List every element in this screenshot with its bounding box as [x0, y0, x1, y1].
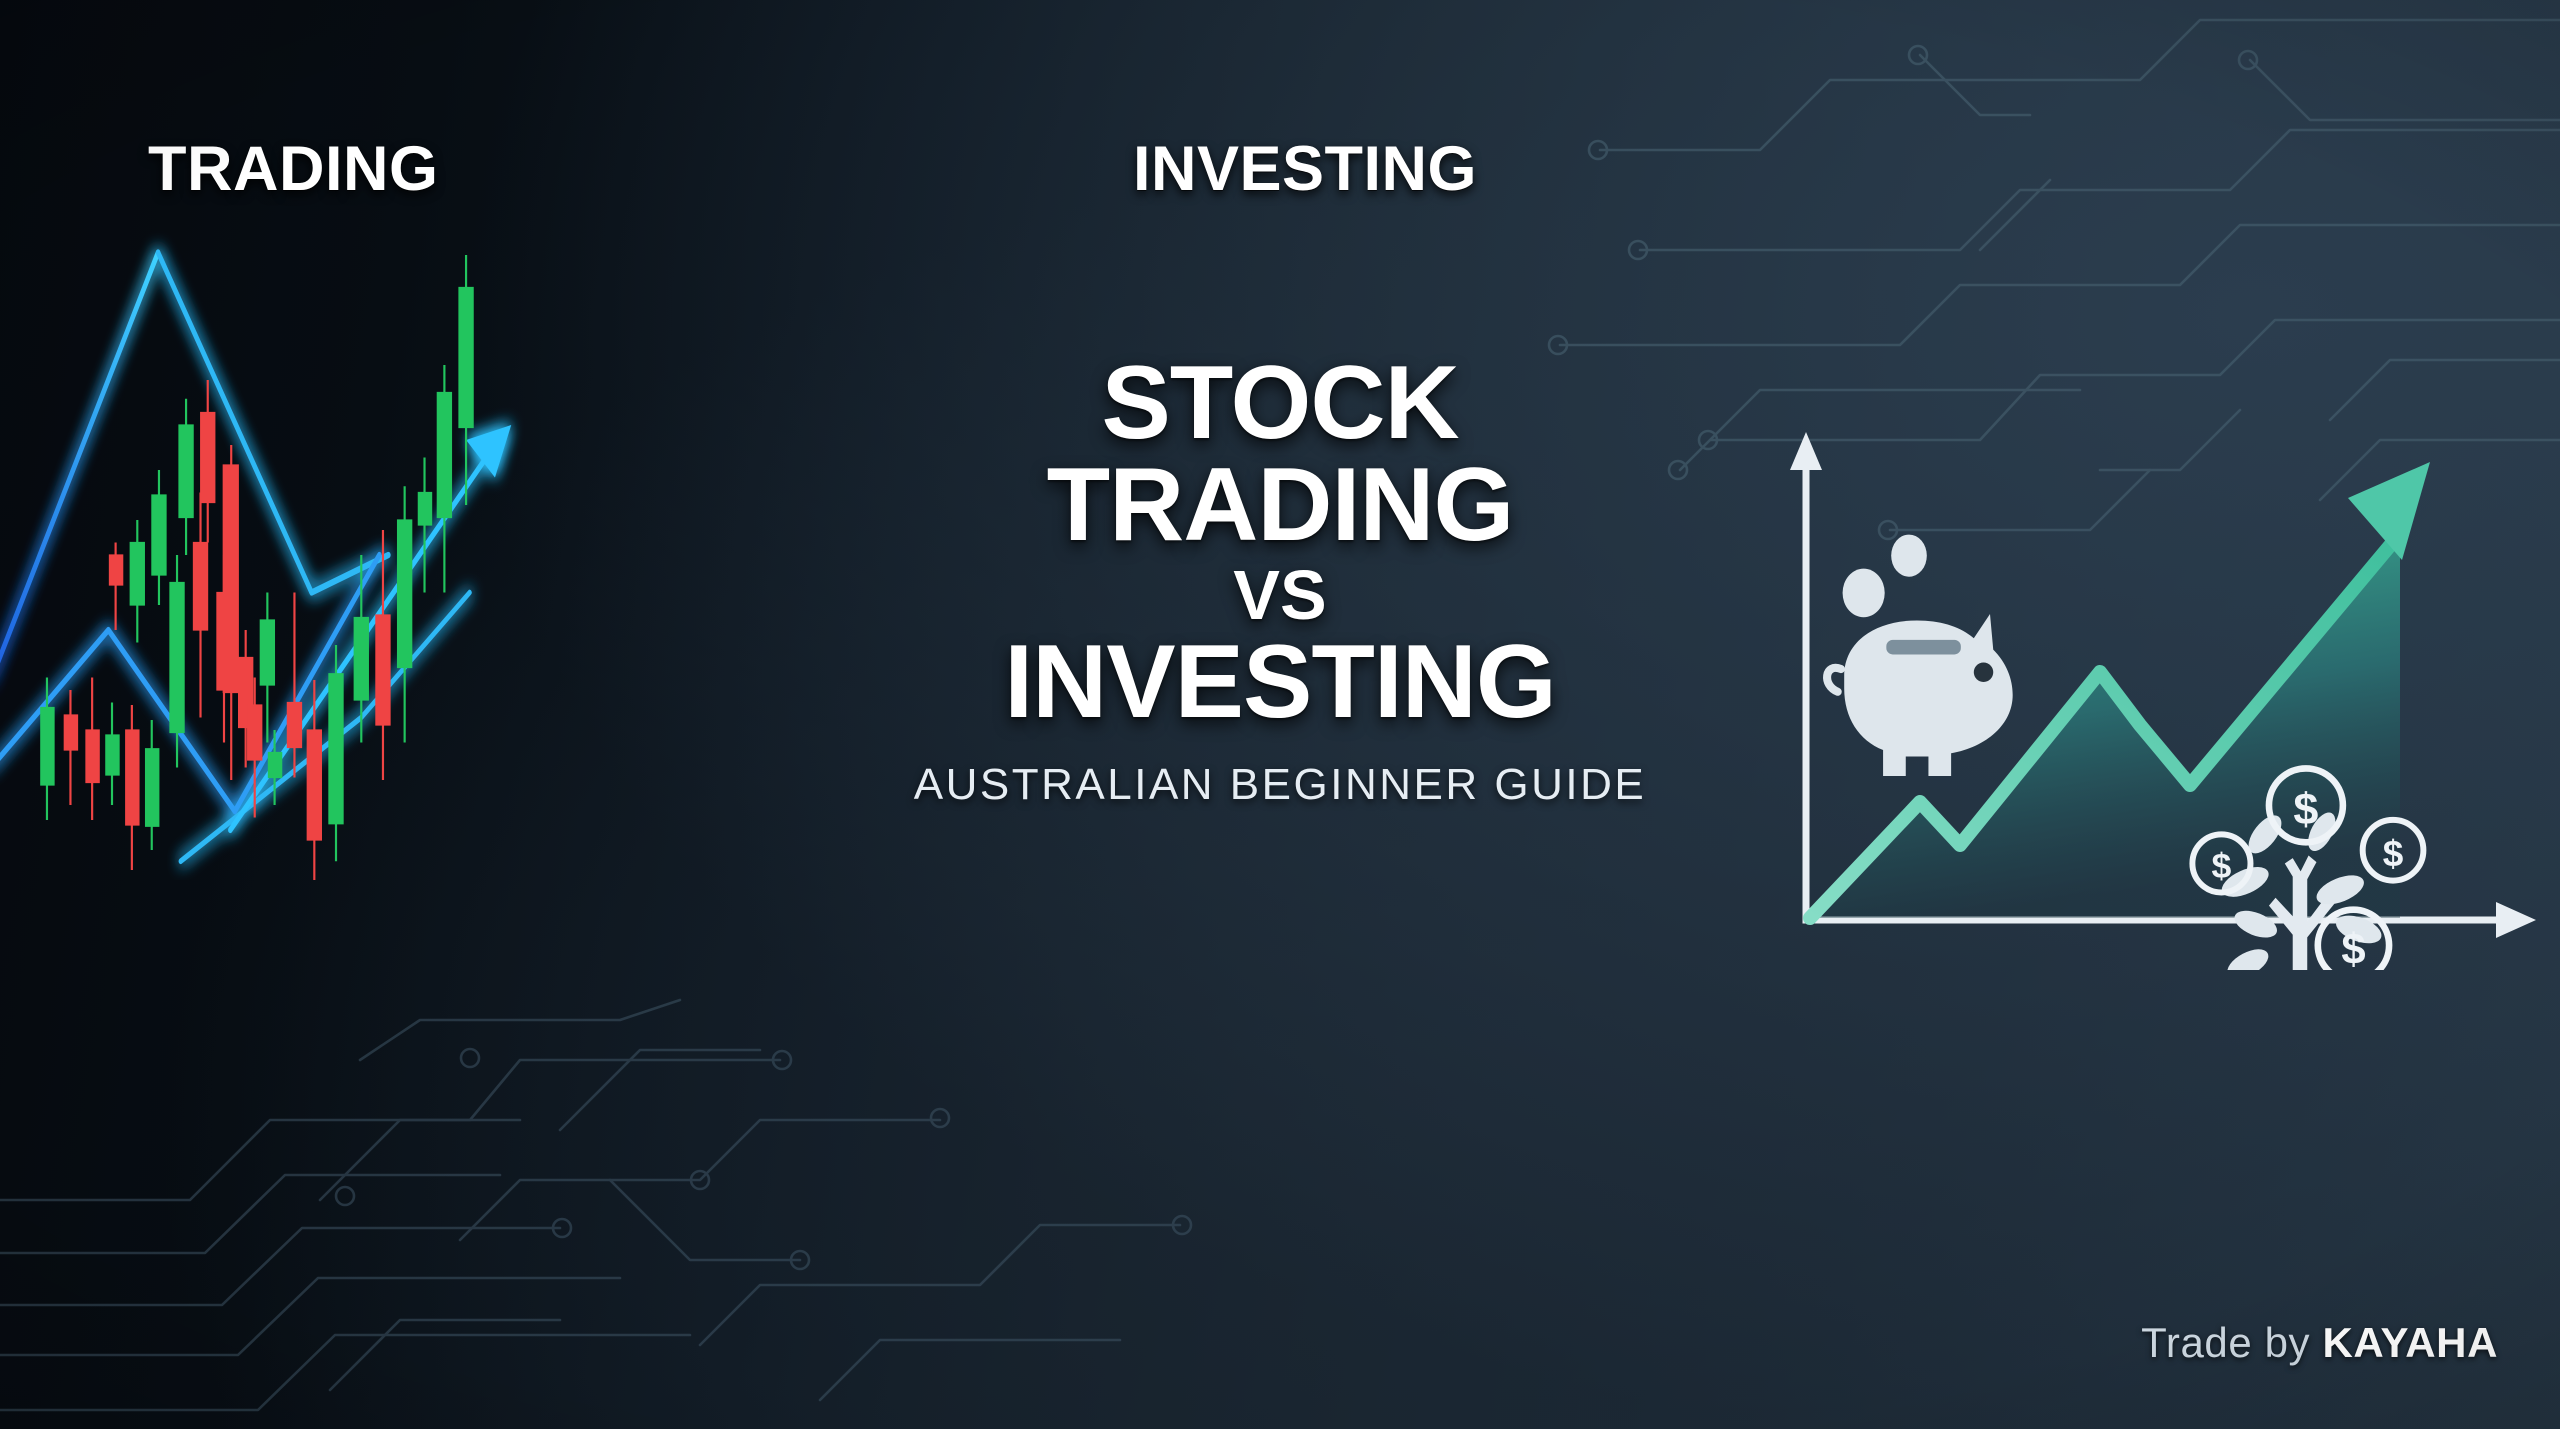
candle-up — [268, 730, 282, 805]
svg-text:$: $ — [2212, 846, 2232, 886]
brand-credit: Trade by KAYAHA — [2141, 1319, 2498, 1367]
title-line-trading: TRADING — [800, 457, 1760, 555]
candle-up — [329, 645, 343, 861]
candle-down — [223, 445, 238, 780]
title-line-investing: INVESTING — [800, 634, 1760, 732]
piggy-bank-icon — [1827, 535, 2013, 776]
candle-up — [152, 470, 166, 605]
section-label-trading: TRADING — [148, 133, 438, 205]
candle-up — [130, 520, 144, 643]
candle-up — [106, 703, 120, 806]
candle-up — [418, 458, 432, 593]
svg-text:$: $ — [2341, 926, 2365, 970]
trendline-ascending-support-2 — [0, 555, 379, 811]
section-label-investing: INVESTING — [1133, 133, 1477, 205]
trading-candlestick-chart — [0, 180, 560, 880]
candle-down — [64, 690, 78, 805]
candle-down — [126, 705, 140, 870]
candle-up — [459, 255, 473, 505]
page-title: STOCK TRADING VS INVESTING AUSTRALIAN BE… — [800, 355, 1760, 810]
svg-text:$: $ — [2293, 783, 2318, 834]
title-line-vs: VS — [800, 563, 1760, 629]
candle-down — [193, 493, 207, 718]
trendline-ascending-support-1 — [0, 253, 158, 681]
candle-down — [376, 530, 390, 780]
poster-canvas: $ $ $ $ TRADING INVESTING STOCK TRADING — [0, 0, 2560, 1429]
candle-down — [307, 680, 321, 880]
brand-prefix: Trade by — [2141, 1319, 2322, 1366]
candle-up — [397, 486, 411, 742]
trendline-descending-resistance — [158, 253, 388, 593]
candle-down — [86, 678, 100, 821]
svg-text:$: $ — [2383, 833, 2404, 874]
page-subtitle: AUSTRALIAN BEGINNER GUIDE — [800, 760, 1760, 810]
candle-down — [201, 380, 215, 543]
brand-name: KAYAHA — [2322, 1319, 2498, 1366]
title-line-stock: STOCK — [800, 355, 1760, 453]
candle-down — [287, 593, 301, 778]
investing-growth-chart: $ $ $ $ — [1770, 390, 2560, 970]
candle-up — [179, 399, 193, 555]
candle-up — [437, 365, 451, 593]
candle-down — [109, 543, 123, 631]
candle-up — [145, 720, 159, 850]
